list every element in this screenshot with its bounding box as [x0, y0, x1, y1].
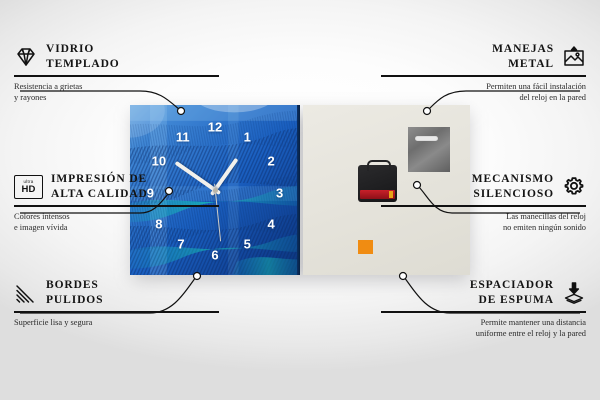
- hanger-slot: [415, 136, 438, 141]
- feature-title: MANEJAS METAL: [492, 42, 554, 72]
- clock-numeral-4: 4: [267, 218, 274, 231]
- clock-numeral-7: 7: [177, 238, 184, 251]
- framed-picture-icon: [562, 45, 586, 69]
- feature-divider: [14, 205, 219, 206]
- feature-divider: [14, 311, 219, 312]
- feature-title: VIDRIO TEMPLADO: [46, 42, 120, 72]
- layers-down-arrow-icon: [562, 281, 586, 305]
- feature-head: VIDRIO TEMPLADO: [14, 42, 219, 72]
- feature-title: ESPACIADOR DE ESPUMA: [470, 278, 554, 308]
- feature-description: Las manecillas del reloj no emiten ningú…: [381, 211, 586, 234]
- feature-manejas-metal: MANEJAS METAL Permiten una fácil instala…: [381, 42, 586, 104]
- gear-icon: [562, 175, 586, 199]
- feature-vidrio-templado: VIDRIO TEMPLADO Resistencia a grietas y …: [14, 42, 219, 104]
- clock-numeral-10: 10: [152, 155, 166, 168]
- feature-bordes-pulidos: BORDES PULIDOS Superficie lisa y segura: [14, 278, 219, 328]
- feature-divider: [381, 75, 586, 76]
- feature-divider: [381, 311, 586, 312]
- mechanism-loop: [367, 160, 391, 171]
- feature-divider: [14, 75, 219, 76]
- clock-numeral-3: 3: [276, 187, 283, 200]
- infographic-canvas: 12 1 2 3 4 5 6 7 8 9 10 11: [0, 0, 600, 400]
- feature-head: MANEJAS METAL: [381, 42, 586, 72]
- clock-edge: [297, 105, 300, 275]
- clock-numeral-6: 6: [211, 248, 218, 261]
- feature-head: ESPACIADOR DE ESPUMA: [381, 278, 586, 308]
- clock-numeral-5: 5: [244, 238, 251, 251]
- feature-description: Permite mantener una distancia uniforme …: [381, 317, 586, 340]
- feature-title: MECANISMO SILENCIOSO: [472, 172, 554, 202]
- feature-head: BORDES PULIDOS: [14, 278, 219, 308]
- feature-mecanismo-silencioso: MECANISMO SILENCIOSO Las manecillas del …: [381, 172, 586, 234]
- clock-numeral-11: 11: [176, 131, 190, 144]
- clock-numeral-2: 2: [267, 155, 274, 168]
- clock-numeral-1: 1: [244, 131, 251, 144]
- feature-head: MECANISMO SILENCIOSO: [381, 172, 586, 202]
- clock-numeral-12: 12: [208, 121, 222, 134]
- ultra-hd-icon: ultra HD: [14, 175, 43, 199]
- feature-description: Permiten una fácil instalación del reloj…: [381, 81, 586, 104]
- feature-impresion-alta-calidad: ultra HD IMPRESIÓN DE ALTA CALIDAD Color…: [14, 172, 219, 234]
- diamond-icon: [14, 45, 38, 69]
- feature-description: Superficie lisa y segura: [14, 317, 219, 329]
- foam-spacer: [358, 240, 373, 254]
- polished-edge-icon: [14, 281, 38, 305]
- feature-head: ultra HD IMPRESIÓN DE ALTA CALIDAD: [14, 172, 219, 202]
- feature-description: Resistencia a grietas y rayones: [14, 81, 219, 104]
- feature-title: IMPRESIÓN DE ALTA CALIDAD: [51, 172, 148, 202]
- metal-hanger-plate: [408, 127, 450, 172]
- feature-description: Colores intensos e imagen vívida: [14, 211, 219, 234]
- feature-espaciador-espuma: ESPACIADOR DE ESPUMA Permite mantener un…: [381, 278, 586, 340]
- feature-divider: [381, 205, 586, 206]
- feature-title: BORDES PULIDOS: [46, 278, 103, 308]
